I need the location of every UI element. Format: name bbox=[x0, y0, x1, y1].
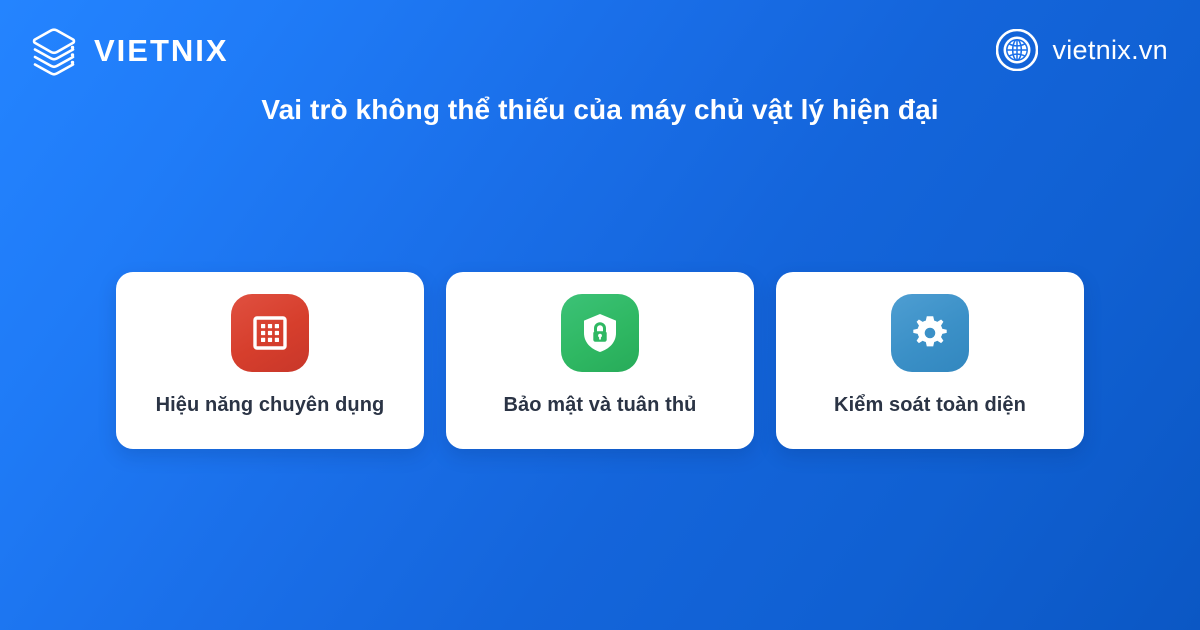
feature-card-label: Hiệu năng chuyên dụng bbox=[156, 393, 385, 417]
feature-card-performance[interactable]: Hiệu năng chuyên dụng bbox=[116, 272, 424, 449]
page-title: Vai trò không thể thiếu của máy chủ vật … bbox=[0, 92, 1200, 127]
stacked-layers-icon bbox=[28, 24, 80, 76]
feature-card-label: Bảo mật và tuân thủ bbox=[503, 393, 696, 417]
feature-card-label: Kiểm soát toàn diện bbox=[834, 393, 1026, 417]
globe-icon bbox=[996, 29, 1038, 71]
shield-lock-icon bbox=[561, 294, 639, 372]
infographic-canvas: VIETNIX vietnix.vn Vai trò không thể thi… bbox=[0, 0, 1200, 630]
gear-icon bbox=[891, 294, 969, 372]
feature-card-list: Hiệu năng chuyên dụng Bảo mật và tuân th… bbox=[116, 272, 1084, 449]
site-url-group[interactable]: vietnix.vn bbox=[996, 24, 1168, 76]
site-url-text: vietnix.vn bbox=[1052, 37, 1168, 64]
feature-card-control[interactable]: Kiểm soát toàn diện bbox=[776, 272, 1084, 449]
feature-card-security[interactable]: Bảo mật và tuân thủ bbox=[446, 272, 754, 449]
server-grid-icon bbox=[231, 294, 309, 372]
brand-name: VIETNIX bbox=[94, 35, 229, 66]
brand-logo[interactable]: VIETNIX bbox=[28, 22, 229, 78]
